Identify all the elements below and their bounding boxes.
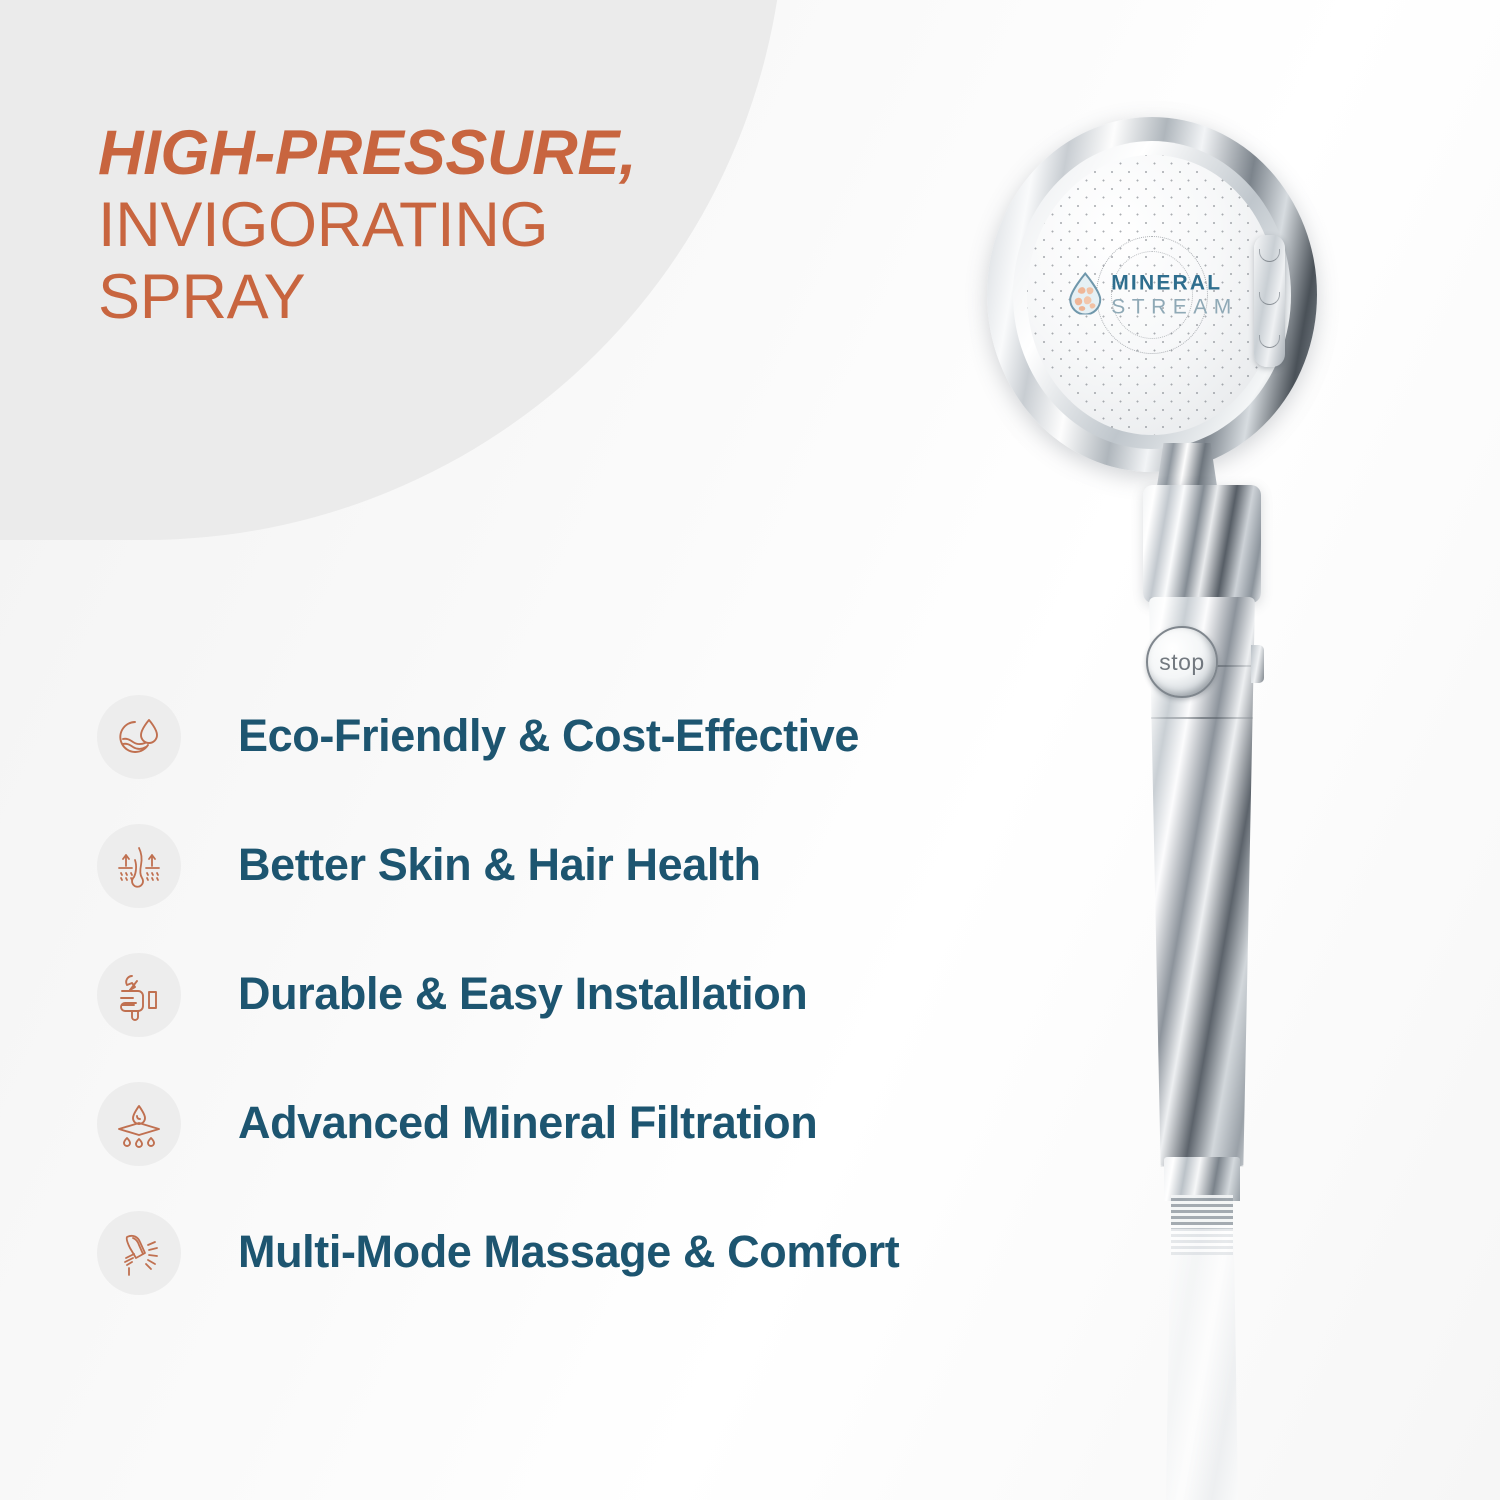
feature-item-durable-installation: Durable & Easy Installation bbox=[97, 930, 1097, 1059]
connector-threads bbox=[1171, 1195, 1233, 1229]
feature-list: Eco-Friendly & Cost-Effective Better Ski… bbox=[97, 672, 1097, 1317]
headline-rest: INVIGORATING SPRAY bbox=[98, 190, 738, 334]
feature-item-mineral-filtration: Advanced Mineral Filtration bbox=[97, 1059, 1097, 1188]
feature-item-multi-mode-massage: Multi-Mode Massage & Comfort bbox=[97, 1188, 1097, 1317]
hand-water-drop-icon bbox=[97, 695, 181, 779]
spray-faceplate: MINERAL STREAM bbox=[1027, 155, 1277, 435]
spray-mode-button-1[interactable] bbox=[1259, 249, 1280, 262]
handle-seam bbox=[1151, 717, 1253, 719]
hair-follicle-arrows-icon bbox=[97, 824, 181, 908]
product-image-handheld-shower-head: MINERAL STREAM stop bbox=[975, 105, 1375, 1500]
feature-item-skin-hair-health: Better Skin & Hair Health bbox=[97, 801, 1097, 930]
swivel-joint bbox=[1143, 485, 1261, 603]
stop-button-label: stop bbox=[1159, 649, 1204, 676]
page-headline: HIGH-PRESSURE, INVIGORATING SPRAY bbox=[98, 118, 738, 333]
filter-membrane-drop-icon bbox=[97, 1082, 181, 1166]
product-reflection-threads bbox=[1171, 1225, 1233, 1255]
spray-mode-selector[interactable] bbox=[1254, 235, 1285, 367]
spray-mode-button-2[interactable] bbox=[1259, 292, 1280, 305]
feature-item-eco-friendly: Eco-Friendly & Cost-Effective bbox=[97, 672, 1097, 801]
feature-label: Durable & Easy Installation bbox=[238, 969, 807, 1019]
feature-label: Better Skin & Hair Health bbox=[238, 840, 761, 890]
mineral-water-drop-icon bbox=[1066, 271, 1104, 320]
feature-label: Multi-Mode Massage & Comfort bbox=[238, 1227, 899, 1277]
shower-head-spray-icon bbox=[97, 1211, 181, 1295]
feature-label: Eco-Friendly & Cost-Effective bbox=[238, 711, 859, 761]
brand-name-line-2: STREAM bbox=[1111, 297, 1238, 318]
product-reflection-fade bbox=[1166, 1225, 1238, 1500]
spray-mode-button-3[interactable] bbox=[1259, 335, 1280, 348]
chrome-bezel-ring: MINERAL STREAM bbox=[987, 117, 1317, 472]
stop-button[interactable]: stop bbox=[1146, 626, 1218, 698]
feature-label: Advanced Mineral Filtration bbox=[238, 1098, 817, 1148]
handle-side-collar bbox=[1251, 645, 1264, 683]
brand-logo-text: MINERAL STREAM bbox=[1111, 273, 1238, 318]
brand-logo: MINERAL STREAM bbox=[1066, 271, 1238, 320]
brand-name-line-1: MINERAL bbox=[1111, 273, 1238, 294]
hand-wrench-icon bbox=[97, 953, 181, 1037]
headline-emphasis: HIGH-PRESSURE, bbox=[98, 118, 738, 190]
